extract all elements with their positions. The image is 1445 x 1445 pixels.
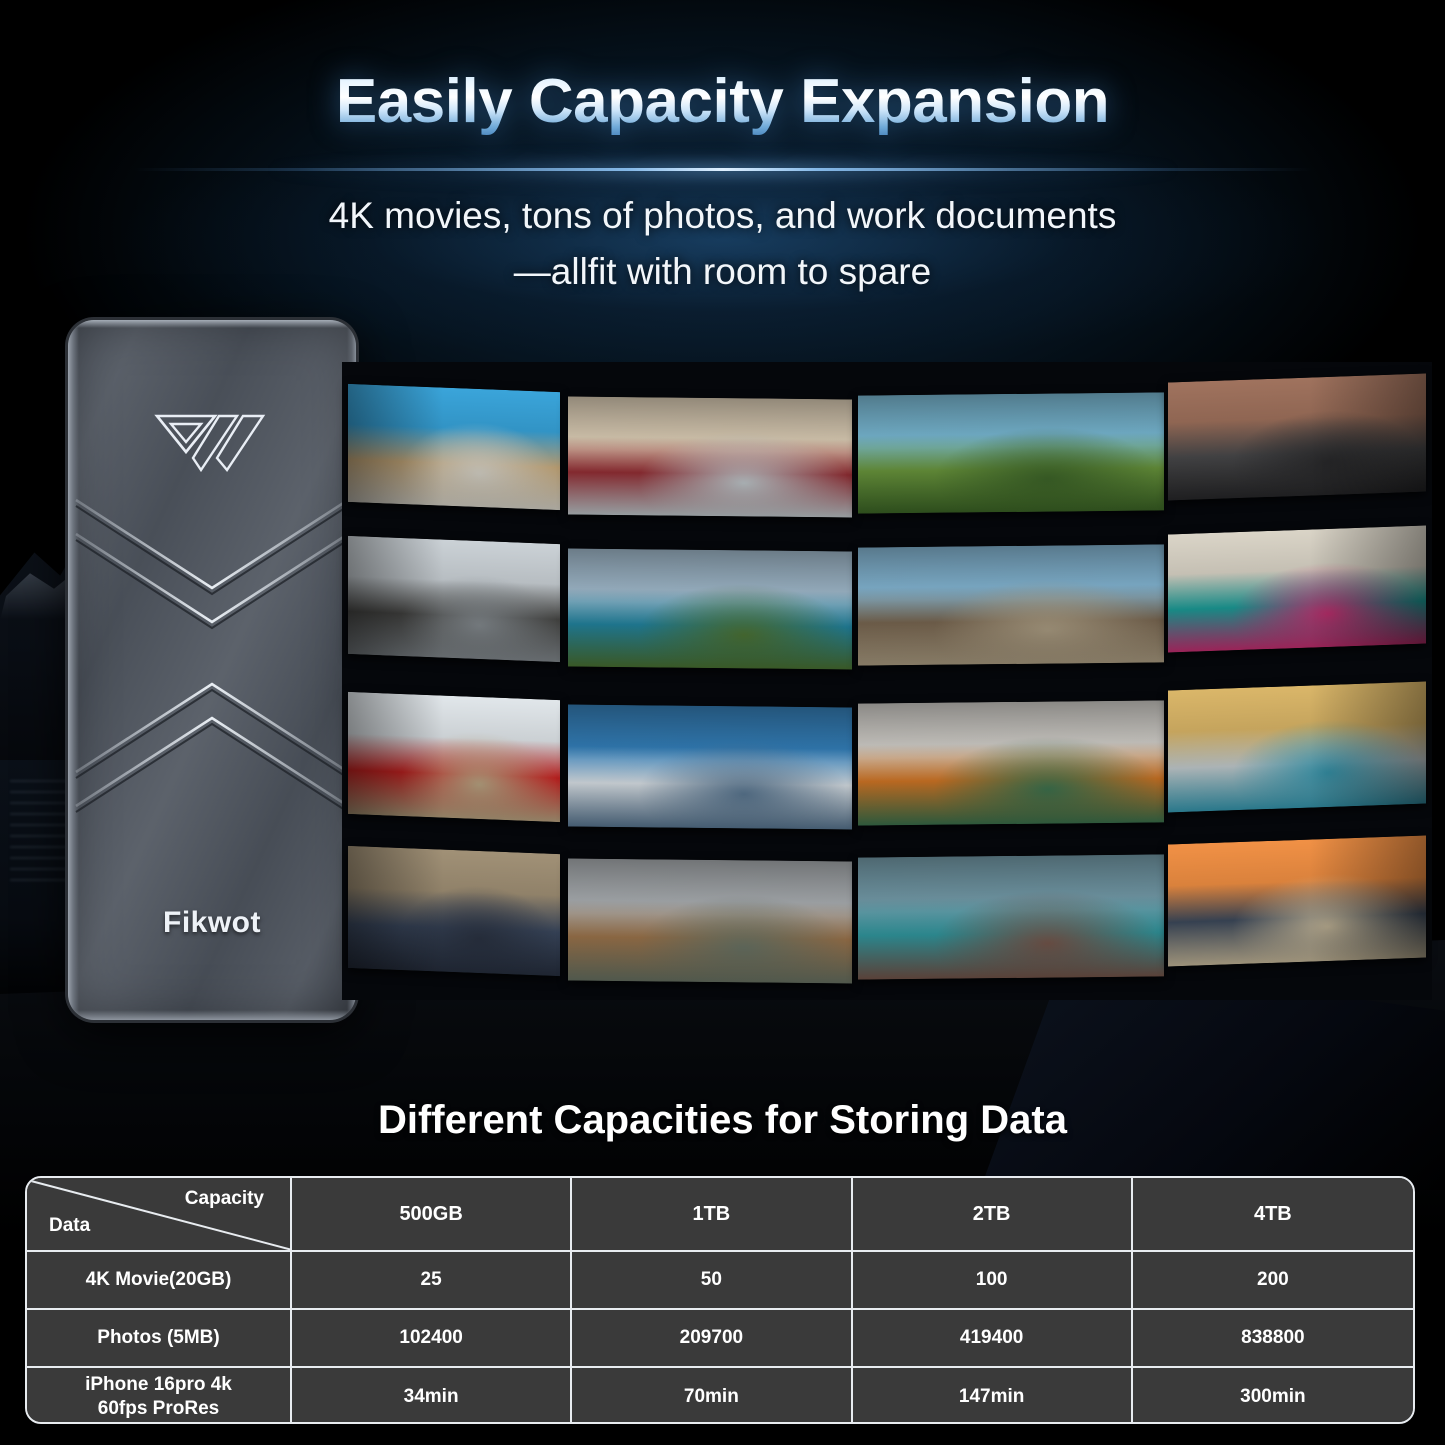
table-column-header: 500GB <box>292 1178 572 1252</box>
woman-selfie-cove-photo <box>1168 525 1426 652</box>
couple-lakeside-photo <box>858 854 1164 979</box>
woman-red-sweater-photo <box>348 692 560 822</box>
brand-name: Fikwot <box>163 906 261 940</box>
photo-tile <box>348 536 560 662</box>
photo-tile <box>348 692 560 822</box>
table-cell: 70min <box>572 1368 852 1424</box>
brand-logo: Fikwot <box>163 906 261 940</box>
photo-tile <box>858 700 1164 825</box>
photo-tile <box>568 859 852 984</box>
family-canyon-road-photo <box>1168 373 1426 500</box>
photo-tile <box>858 854 1164 979</box>
table-row-header: iPhone 16pro 4k60fps ProRes <box>27 1368 292 1424</box>
table-column-header: 4TB <box>1133 1178 1413 1252</box>
column-axis-label: Capacity <box>185 1187 264 1211</box>
hero-subtitle-line-1: 4K movies, tons of photos, and work docu… <box>0 188 1445 244</box>
hiker-mountain-boardwalk-photo <box>568 859 852 984</box>
hiker-boardwalk-fog-photo <box>348 536 560 662</box>
photo-wall <box>346 372 1428 990</box>
woman-painting-easel-photo <box>1168 681 1426 812</box>
table-cell: 838800 <box>1133 1310 1413 1368</box>
table-cell: 50 <box>572 1252 852 1310</box>
table-corner-header: CapacityData <box>27 1178 292 1252</box>
photo-tile <box>568 549 852 670</box>
hero-subtitle-line-2: —allfit with room to spare <box>0 244 1445 300</box>
table-section-title: Different Capacities for Storing Data <box>0 1098 1445 1143</box>
child-sitting-shore-photo <box>858 700 1164 825</box>
table-cell: 419400 <box>853 1310 1133 1368</box>
green-hills-village-photo <box>858 392 1164 513</box>
table-column-header: 1TB <box>572 1178 852 1252</box>
table-cell: 209700 <box>572 1310 852 1368</box>
table-cell: 300min <box>1133 1368 1413 1424</box>
table-cell: 34min <box>292 1368 572 1424</box>
table-cell: 100 <box>853 1252 1133 1310</box>
woman-wheat-field-photo <box>568 549 852 670</box>
marketing-banner: Easily Capacity Expansion 4K movies, ton… <box>0 0 1445 1445</box>
photo-tile <box>348 384 560 510</box>
table-cell: 25 <box>292 1252 572 1310</box>
capacity-table: CapacityData500GB1TB2TB4TB4K Movie(20GB)… <box>25 1176 1415 1424</box>
rocky-coast-sky-photo <box>858 544 1164 665</box>
product-ssd: Fikwot <box>68 320 356 1020</box>
table-row-header-text: iPhone 16pro 4k60fps ProRes <box>85 1373 232 1421</box>
table-row-header-line: 60fps ProRes <box>85 1397 232 1421</box>
page-title: Easily Capacity Expansion <box>0 66 1445 137</box>
photo-tile <box>1168 525 1426 652</box>
sailboat-sunset-photo <box>1168 835 1426 966</box>
photo-tile <box>858 544 1164 665</box>
photo-tile <box>568 705 852 830</box>
photo-tile <box>568 397 852 518</box>
photo-tile <box>1168 681 1426 812</box>
hero-subtitle: 4K movies, tons of photos, and work docu… <box>0 188 1445 299</box>
photo-tile <box>858 392 1164 513</box>
camel-ride-beach-photo <box>348 384 560 510</box>
table-cell: 147min <box>853 1368 1133 1424</box>
bearded-hiker-backpack-photo <box>348 846 560 976</box>
photo-tile <box>348 846 560 976</box>
lens-flare-line <box>133 168 1313 171</box>
table-row-header: 4K Movie(20GB) <box>27 1252 292 1310</box>
table-column-header: 2TB <box>853 1178 1133 1252</box>
table-row-header-line: iPhone 16pro 4k <box>85 1373 232 1397</box>
couple-convertible-sunset-photo <box>568 397 852 518</box>
table-cell: 102400 <box>292 1310 572 1368</box>
table-cell: 200 <box>1133 1252 1413 1310</box>
table-row-header: Photos (5MB) <box>27 1310 292 1368</box>
photo-tile <box>1168 373 1426 500</box>
row-axis-label: Data <box>49 1214 90 1238</box>
snow-mountain-clouds-photo <box>568 705 852 830</box>
photo-tile <box>1168 835 1426 966</box>
